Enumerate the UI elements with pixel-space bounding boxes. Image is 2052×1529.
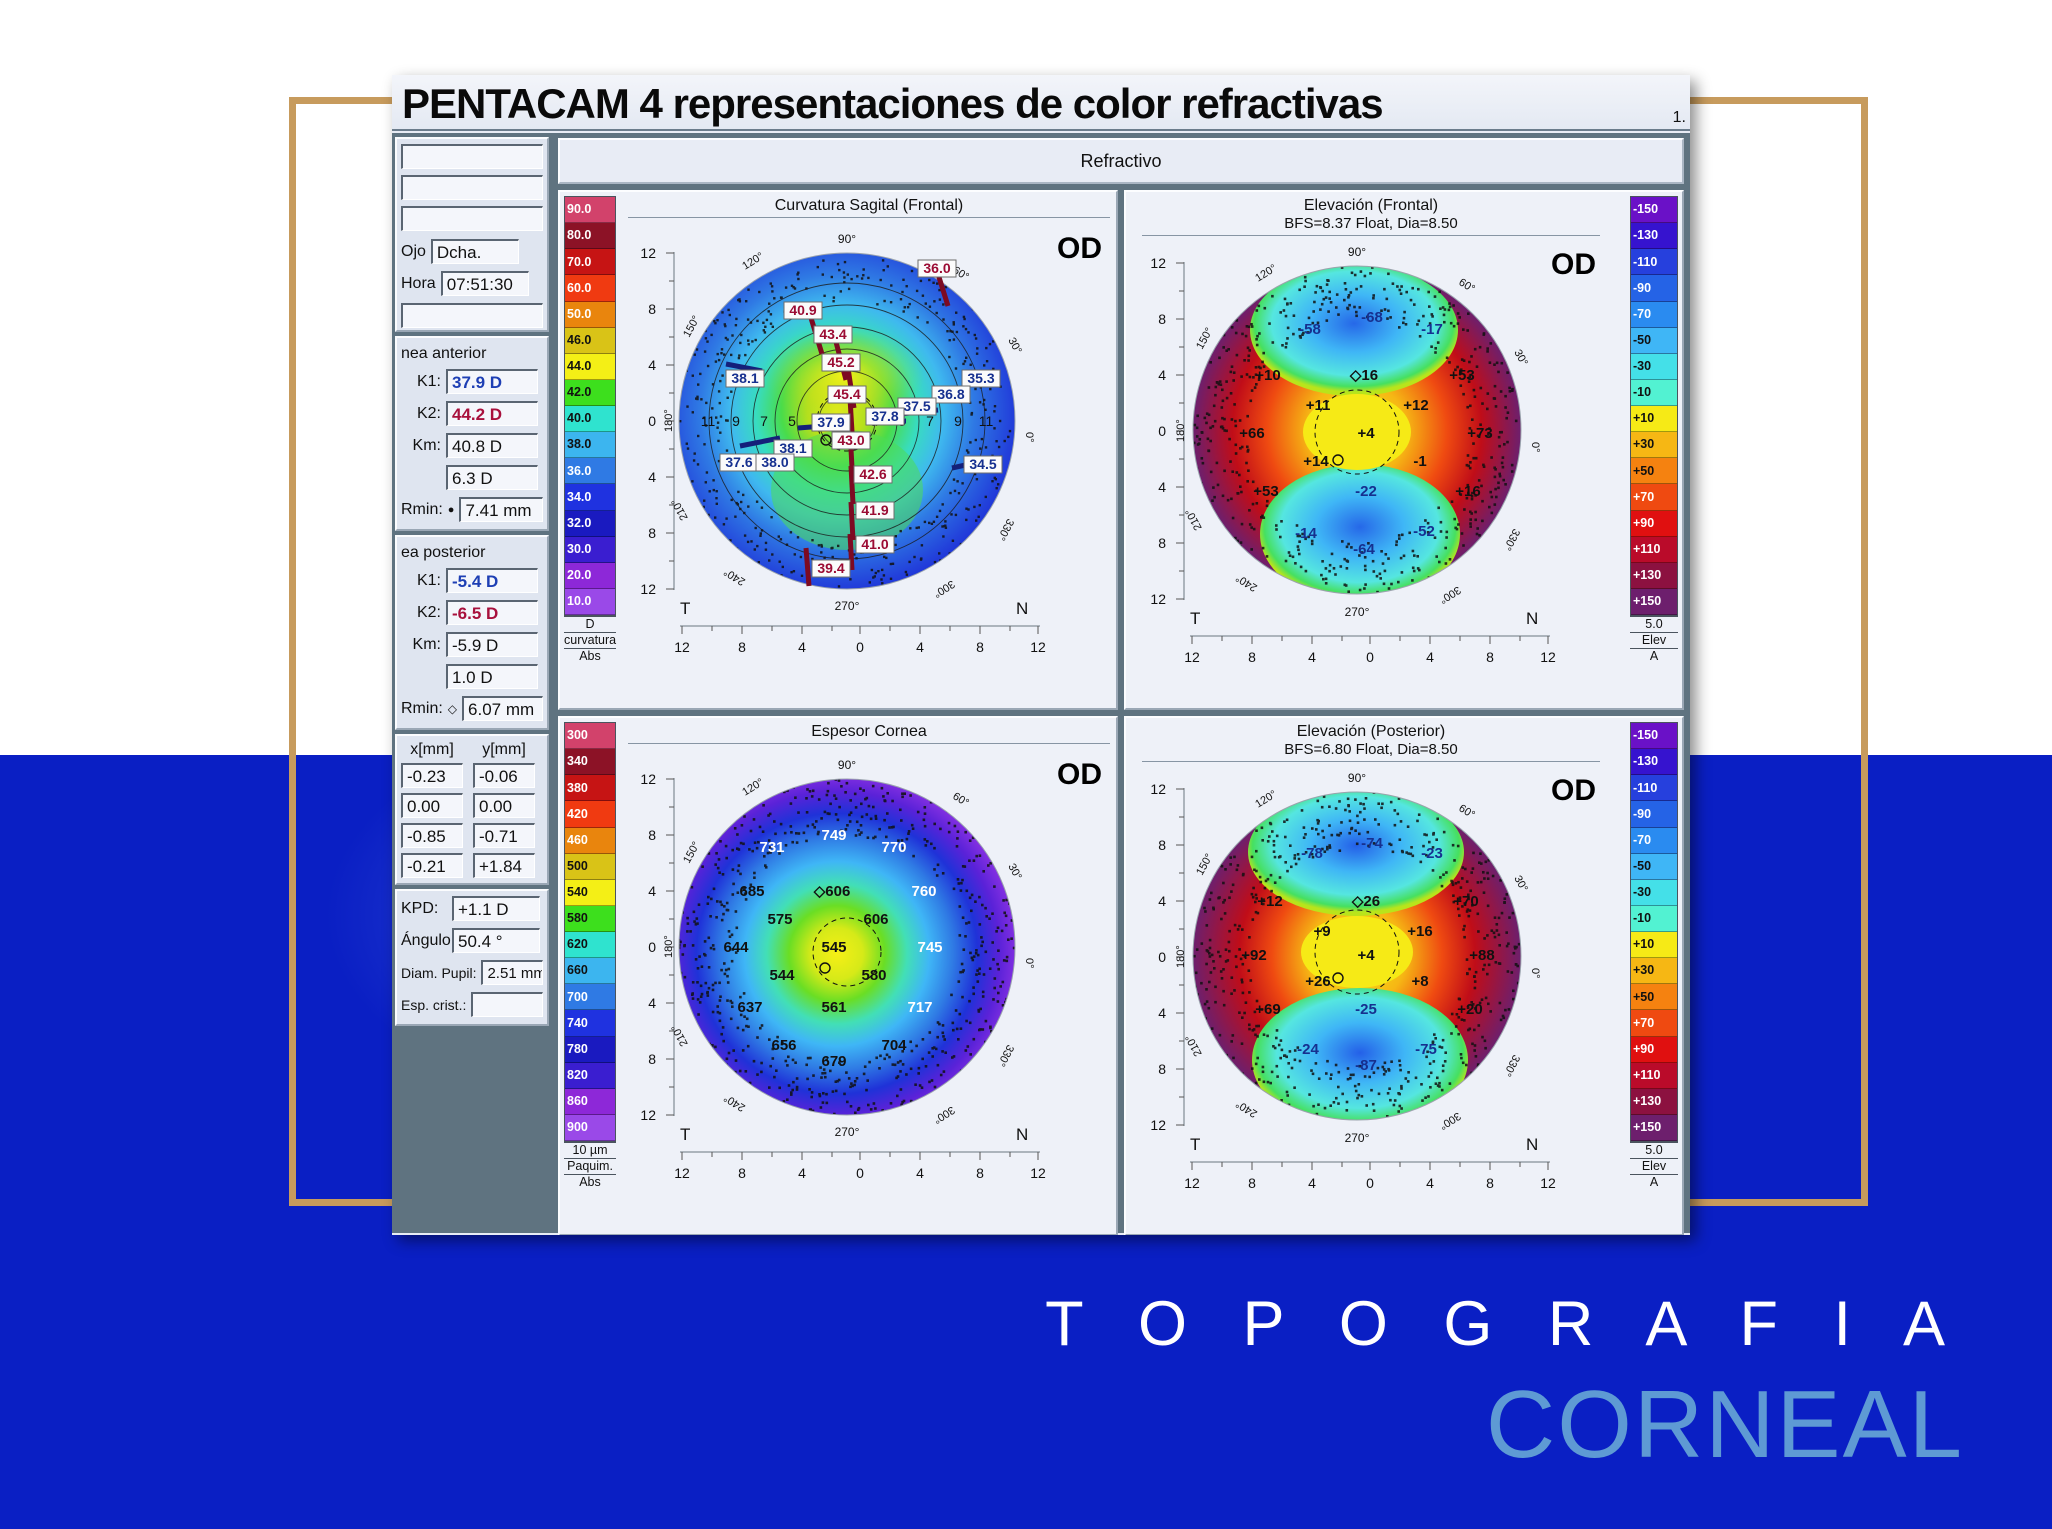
- svg-text:717: 717: [907, 999, 932, 1016]
- svg-text:12: 12: [1184, 1175, 1200, 1191]
- scale-band: 740: [565, 1010, 615, 1036]
- svg-text:0: 0: [1158, 949, 1166, 965]
- svg-text:8: 8: [1248, 649, 1256, 665]
- svg-text:150°: 150°: [1194, 852, 1216, 878]
- scale-band: -10: [1631, 906, 1677, 932]
- svg-text:575: 575: [767, 911, 792, 928]
- svg-text:0: 0: [648, 939, 656, 955]
- svg-text:38.1: 38.1: [731, 370, 758, 386]
- scale-band: +150: [1631, 589, 1677, 615]
- svg-text:4: 4: [648, 995, 656, 1011]
- eye-label: Ojo: [401, 243, 426, 261]
- anterior-km-field[interactable]: 40.8 D: [446, 433, 538, 458]
- svg-text:35.3: 35.3: [967, 370, 994, 386]
- svg-text:240°: 240°: [1234, 1097, 1260, 1119]
- svg-text:90°: 90°: [1348, 245, 1366, 259]
- elevation-scale-mode: A: [1630, 1174, 1678, 1190]
- svg-text:120°: 120°: [740, 776, 766, 798]
- posterior-cornea-panel: ea posterior K1: -5.4 D K2: -6.5 D Km: -…: [395, 535, 549, 730]
- sagittal-plot[interactable]: 12 8 4 0 4 8 12: [622, 218, 1116, 688]
- svg-text:330°: 330°: [1501, 527, 1522, 553]
- pachymetry-plot[interactable]: 12 8 4 0 4 8 12: [622, 744, 1116, 1214]
- scale-band: -90: [1631, 801, 1677, 827]
- posterior-k1-label: K1:: [401, 572, 441, 590]
- map-elevation-anterior[interactable]: Elevación (Frontal) BFS=8.37 Float, Dia=…: [1124, 190, 1684, 710]
- scale-band: -90: [1631, 275, 1677, 301]
- main-content: Refractivo 90.080.070.060.050.046.044.04…: [552, 133, 1690, 1233]
- svg-text:685: 685: [739, 883, 764, 900]
- svg-text:4: 4: [648, 357, 656, 373]
- elevation-color-scale[interactable]: -150-130-110-90-70-50-30-10+10+30+50+70+…: [1630, 196, 1678, 616]
- svg-text:4: 4: [916, 1165, 924, 1181]
- svg-text:-74: -74: [1361, 835, 1383, 852]
- svg-text:300°: 300°: [1437, 1109, 1463, 1131]
- svg-text:180°: 180°: [663, 409, 675, 432]
- svg-text:+8: +8: [1411, 973, 1428, 990]
- pupil-diameter-field[interactable]: 2.51 mm: [481, 960, 543, 985]
- svg-text:+66: +66: [1239, 425, 1264, 442]
- svg-text:+20: +20: [1457, 1001, 1482, 1018]
- svg-text:8: 8: [648, 525, 656, 541]
- svg-text:8: 8: [1158, 837, 1166, 853]
- elevation-scale-name: Elev: [1630, 1158, 1678, 1174]
- sidebar: Ojo Dcha. Hora 07:51:30 nea anterior K1:…: [392, 133, 552, 1233]
- svg-text:330°: 330°: [1501, 1053, 1522, 1079]
- svg-text:4: 4: [1158, 479, 1166, 495]
- svg-text:760: 760: [911, 883, 936, 900]
- curvature-scale-mode: Abs: [564, 648, 616, 664]
- scale-band: -70: [1631, 302, 1677, 328]
- svg-text:12: 12: [1150, 781, 1166, 797]
- svg-text:12: 12: [640, 581, 656, 597]
- anterior-cornea-panel: nea anterior K1: 37.9 D K2: 44.2 D Km: 4…: [395, 336, 549, 531]
- scale-band: +10: [1631, 406, 1677, 432]
- svg-text:-23: -23: [1421, 845, 1443, 862]
- svg-text:330°: 330°: [995, 517, 1016, 543]
- time-field[interactable]: 07:51:30: [441, 271, 529, 296]
- map-subtitle: BFS=8.37 Float, Dia=8.50: [1136, 215, 1606, 233]
- scale-band: 20.0: [565, 563, 615, 589]
- svg-text:+11: +11: [1306, 397, 1331, 414]
- scale-band: 42.0: [565, 380, 615, 406]
- coord-x-field[interactable]: -0.21: [401, 853, 463, 878]
- posterior-rmin-field[interactable]: 6.07 mm: [462, 696, 543, 721]
- svg-text:37.8: 37.8: [871, 408, 898, 424]
- svg-text:37.9: 37.9: [817, 414, 844, 430]
- scale-band: +50: [1631, 984, 1677, 1010]
- svg-text:240°: 240°: [722, 565, 748, 587]
- svg-text:210°: 210°: [669, 496, 690, 522]
- svg-text:◇26: ◇26: [1351, 893, 1380, 910]
- svg-text:4: 4: [1426, 649, 1434, 665]
- svg-text:4: 4: [1158, 367, 1166, 383]
- map-subtitle: BFS=6.80 Float, Dia=8.50: [1136, 741, 1606, 759]
- scale-band: -30: [1631, 354, 1677, 380]
- svg-text:120°: 120°: [1253, 262, 1279, 284]
- elevation-posterior-plot[interactable]: 12 8 4 0 4 8 12: [1132, 760, 1602, 1210]
- svg-text:30°: 30°: [1005, 336, 1024, 356]
- svg-text:0: 0: [1158, 423, 1166, 439]
- map-sagittal-curvature[interactable]: 90.080.070.060.050.046.044.042.040.038.0…: [558, 190, 1118, 710]
- svg-text:+92: +92: [1241, 947, 1266, 964]
- anterior-k2-field[interactable]: 44.2 D: [446, 401, 538, 426]
- svg-text:-1: -1: [1413, 453, 1426, 470]
- svg-text:4: 4: [1426, 1175, 1434, 1191]
- rmin-marker-icon: ●: [448, 504, 455, 516]
- svg-text:9: 9: [954, 413, 962, 429]
- map-title: Curvatura Sagital (Frontal): [622, 192, 1116, 215]
- svg-text:12: 12: [640, 771, 656, 787]
- scale-band: -110: [1631, 249, 1677, 275]
- svg-text:561: 561: [821, 999, 846, 1016]
- svg-text:90°: 90°: [838, 758, 856, 772]
- angle-field[interactable]: 50.4 °: [452, 928, 540, 953]
- lens-thickness-field[interactable]: [471, 992, 543, 1017]
- scale-band: 70.0: [565, 249, 615, 275]
- svg-text:5: 5: [788, 413, 796, 429]
- svg-text:240°: 240°: [1234, 571, 1260, 593]
- anterior-km-label: Km:: [401, 437, 441, 455]
- svg-text:4: 4: [798, 1165, 806, 1181]
- svg-text:731: 731: [759, 839, 784, 856]
- curvature-scale-unit: D: [564, 616, 616, 632]
- elevation-scale-name: Elev: [1630, 632, 1678, 648]
- svg-text:11: 11: [979, 413, 994, 429]
- svg-text:0°: 0°: [1023, 432, 1035, 443]
- svg-text:300°: 300°: [931, 577, 957, 599]
- svg-text:0: 0: [1366, 1175, 1374, 1191]
- scale-band: +70: [1631, 484, 1677, 510]
- coord-y-field[interactable]: -0.06: [473, 763, 535, 788]
- elevation-scale-unit: 5.0: [1630, 1142, 1678, 1158]
- svg-text:36.0: 36.0: [923, 260, 950, 276]
- svg-text:656: 656: [771, 1037, 796, 1054]
- svg-text:30°: 30°: [1005, 862, 1024, 882]
- svg-text:330°: 330°: [995, 1043, 1016, 1069]
- scale-band: 44.0: [565, 354, 615, 380]
- scale-band: 820: [565, 1063, 615, 1089]
- scale-band: -10: [1631, 380, 1677, 406]
- scale-band: -70: [1631, 828, 1677, 854]
- svg-text:-25: -25: [1355, 1001, 1377, 1018]
- scale-band: 420: [565, 801, 615, 827]
- posterior-k2-label: K2:: [401, 604, 441, 622]
- anterior-group-title: nea anterior: [401, 345, 543, 363]
- pentacam-window: PENTACAM 4 representaciones de color ref…: [392, 75, 1690, 1235]
- coord-y-field[interactable]: +1.84: [473, 853, 535, 878]
- svg-text:679: 679: [821, 1053, 846, 1070]
- svg-text:8: 8: [738, 1165, 746, 1181]
- svg-text:90°: 90°: [838, 232, 856, 246]
- svg-text:545: 545: [821, 939, 846, 956]
- scale-band: -130: [1631, 749, 1677, 775]
- svg-text:12: 12: [1540, 649, 1556, 665]
- svg-text:11: 11: [701, 413, 716, 429]
- posterior-km-field[interactable]: -5.9 D: [446, 632, 538, 657]
- anterior-k1-label: K1:: [401, 373, 441, 391]
- svg-text:41.9: 41.9: [861, 502, 888, 518]
- svg-text:8: 8: [976, 1165, 984, 1181]
- scale-band: 10.0: [565, 589, 615, 615]
- svg-text:41.0: 41.0: [861, 536, 888, 552]
- svg-text:34.5: 34.5: [969, 456, 996, 472]
- svg-text:43.4: 43.4: [819, 326, 846, 342]
- elevation-scale-unit: 5.0: [1630, 616, 1678, 632]
- svg-text:-64: -64: [1353, 541, 1375, 558]
- svg-text:+14: +14: [1303, 453, 1329, 470]
- svg-text:180°: 180°: [1175, 945, 1187, 968]
- scale-band: 340: [565, 749, 615, 775]
- svg-text:+4: +4: [1357, 425, 1375, 442]
- svg-text:+16: +16: [1455, 483, 1480, 500]
- svg-text:+73: +73: [1467, 425, 1492, 442]
- svg-text:+16: +16: [1407, 923, 1432, 940]
- page-title: PENTACAM 4 representaciones de color ref…: [402, 80, 1383, 128]
- posterior-k1-field[interactable]: -5.4 D: [446, 568, 538, 593]
- svg-text:36.8: 36.8: [937, 386, 964, 402]
- svg-text:45.2: 45.2: [827, 354, 854, 370]
- coord-x-header: x[mm]: [401, 741, 463, 759]
- svg-text:150°: 150°: [681, 840, 703, 866]
- svg-text:N: N: [1016, 599, 1028, 618]
- pachymetry-scale-mode: Abs: [564, 1174, 616, 1190]
- svg-text:4: 4: [1158, 893, 1166, 909]
- scale-band: 540: [565, 880, 615, 906]
- slide-caption-secondary: CORNEAL: [1486, 1370, 1964, 1480]
- version-label: 1.: [1673, 109, 1686, 127]
- patient-dob-field[interactable]: [401, 206, 543, 231]
- svg-text:745: 745: [917, 939, 942, 956]
- svg-text:N: N: [1016, 1125, 1028, 1144]
- posterior-km-label: Km:: [401, 636, 441, 654]
- scale-band: 38.0: [565, 432, 615, 458]
- svg-text:4: 4: [1308, 1175, 1316, 1191]
- section-header: Refractivo: [558, 138, 1684, 184]
- svg-text:-87: -87: [1355, 1057, 1377, 1074]
- svg-text:4: 4: [1158, 1005, 1166, 1021]
- svg-text:4: 4: [1308, 649, 1316, 665]
- svg-text:◇606: ◇606: [813, 883, 851, 900]
- anterior-rmin-field[interactable]: 7.41 mm: [459, 497, 543, 522]
- elevation-scale-mode: A: [1630, 648, 1678, 664]
- scale-band: 40.0: [565, 406, 615, 432]
- svg-text:8: 8: [1248, 1175, 1256, 1191]
- svg-text:T: T: [680, 599, 690, 618]
- svg-text:+12: +12: [1403, 397, 1428, 414]
- eye-field[interactable]: Dcha.: [431, 239, 519, 264]
- svg-text:N: N: [1526, 609, 1538, 628]
- patient-name-field[interactable]: [401, 144, 543, 169]
- svg-text:270°: 270°: [1345, 1131, 1370, 1145]
- svg-text:12: 12: [674, 1165, 690, 1181]
- kpd-field[interactable]: +1.1 D: [452, 896, 540, 921]
- scale-band: +70: [1631, 1010, 1677, 1036]
- curvature-scale-name: curvatura: [564, 632, 616, 648]
- svg-text:8: 8: [648, 827, 656, 843]
- svg-text:180°: 180°: [663, 935, 675, 958]
- pachymetry-color-scale[interactable]: 3003403804204605005405806206607007407808…: [564, 722, 616, 1142]
- svg-text:270°: 270°: [835, 599, 860, 613]
- scale-band: 660: [565, 958, 615, 984]
- svg-text:240°: 240°: [722, 1091, 748, 1113]
- scale-band: 580: [565, 906, 615, 932]
- scale-band: +10: [1631, 932, 1677, 958]
- svg-text:-24: -24: [1297, 1041, 1319, 1058]
- svg-text:8: 8: [1158, 311, 1166, 327]
- svg-text:+70: +70: [1453, 893, 1478, 910]
- scale-band: +130: [1631, 563, 1677, 589]
- map-elevation-posterior[interactable]: Elevación (Posterior) BFS=6.80 Float, Di…: [1124, 716, 1684, 1235]
- scale-band: 60.0: [565, 275, 615, 301]
- scale-band: -150: [1631, 723, 1677, 749]
- svg-text:-78: -78: [1301, 845, 1323, 862]
- svg-text:210°: 210°: [1183, 1032, 1204, 1058]
- coord-y-field[interactable]: 0.00: [473, 793, 535, 818]
- svg-text:0: 0: [856, 639, 864, 655]
- svg-text:40.9: 40.9: [789, 302, 816, 318]
- svg-text:4: 4: [798, 639, 806, 655]
- svg-text:8: 8: [1158, 535, 1166, 551]
- svg-text:12: 12: [640, 245, 656, 261]
- svg-text:0: 0: [1366, 649, 1374, 665]
- patient-id-field[interactable]: [401, 175, 543, 200]
- scale-band: 90.0: [565, 197, 615, 223]
- scale-band: 500: [565, 854, 615, 880]
- svg-text:45.4: 45.4: [833, 386, 860, 402]
- elevation-anterior-plot[interactable]: 12 8 4 0 4 8 12: [1132, 234, 1602, 684]
- svg-text:37.5: 37.5: [903, 398, 930, 414]
- map-title: Espesor Cornea: [622, 718, 1116, 741]
- svg-text:-75: -75: [1415, 1041, 1437, 1058]
- svg-text:270°: 270°: [1345, 605, 1370, 619]
- svg-text:38.0: 38.0: [761, 454, 788, 470]
- anterior-astigmatism-field[interactable]: 6.3 D: [446, 465, 538, 490]
- svg-text:8: 8: [1486, 1175, 1494, 1191]
- scale-band: +30: [1631, 432, 1677, 458]
- svg-text:210°: 210°: [1183, 506, 1204, 532]
- svg-text:T: T: [1190, 609, 1200, 628]
- svg-text:0°: 0°: [1529, 442, 1541, 453]
- anterior-k2-label: K2:: [401, 405, 441, 423]
- svg-text:60°: 60°: [1456, 802, 1476, 821]
- svg-text:+88: +88: [1469, 947, 1494, 964]
- scale-band: +110: [1631, 1063, 1677, 1089]
- scale-band: 460: [565, 828, 615, 854]
- svg-text:-14: -14: [1295, 525, 1317, 542]
- elevation-color-scale[interactable]: -150-130-110-90-70-50-30-10+10+30+50+70+…: [1630, 722, 1678, 1142]
- coord-y-field[interactable]: -0.71: [473, 823, 535, 848]
- svg-text:12: 12: [1150, 591, 1166, 607]
- svg-text:12: 12: [674, 639, 690, 655]
- svg-text:8: 8: [1158, 1061, 1166, 1077]
- anterior-k1-field[interactable]: 37.9 D: [446, 369, 538, 394]
- scale-band: 860: [565, 1089, 615, 1115]
- svg-text:+12: +12: [1257, 893, 1282, 910]
- scale-band: +150: [1631, 1115, 1677, 1141]
- posterior-astigmatism-field[interactable]: 1.0 D: [446, 664, 538, 689]
- pachymetry-scale-unit: 10 µm: [564, 1142, 616, 1158]
- svg-text:0°: 0°: [1023, 958, 1035, 969]
- scale-band: 780: [565, 1037, 615, 1063]
- map-title: Elevación (Frontal): [1136, 192, 1606, 215]
- svg-text:-68: -68: [1361, 309, 1383, 326]
- kpd-label: KPD:: [401, 900, 447, 918]
- scale-band: 300: [565, 723, 615, 749]
- svg-text:-17: -17: [1421, 321, 1443, 338]
- svg-text:N: N: [1526, 1135, 1538, 1154]
- svg-text:12: 12: [1150, 1117, 1166, 1133]
- svg-text:60°: 60°: [1456, 276, 1476, 295]
- coordinates-panel: x[mm] y[mm] -0.23 -0.06 0.00 0.00 -0.85 …: [395, 734, 549, 885]
- svg-text:8: 8: [976, 639, 984, 655]
- svg-text:0: 0: [856, 1165, 864, 1181]
- coord-x-field[interactable]: -0.23: [401, 763, 463, 788]
- scale-band: 700: [565, 984, 615, 1010]
- svg-text:60°: 60°: [950, 790, 970, 809]
- scale-band: +90: [1631, 511, 1677, 537]
- slide-caption-primary: T O P O G R A F I A: [1045, 1288, 1964, 1360]
- coord-y-header: y[mm]: [473, 741, 535, 759]
- svg-text:0: 0: [648, 413, 656, 429]
- scale-band: +130: [1631, 1089, 1677, 1115]
- svg-text:+4: +4: [1357, 947, 1375, 964]
- svg-text:12: 12: [1150, 255, 1166, 271]
- svg-text:12: 12: [1540, 1175, 1556, 1191]
- scale-band: 46.0: [565, 328, 615, 354]
- svg-text:120°: 120°: [1253, 788, 1279, 810]
- svg-text:+53: +53: [1449, 367, 1474, 384]
- scale-band: 34.0: [565, 484, 615, 510]
- svg-text:43.0: 43.0: [837, 432, 864, 448]
- svg-text:120°: 120°: [740, 250, 766, 272]
- scale-band: +30: [1631, 958, 1677, 984]
- svg-text:12: 12: [1030, 1165, 1046, 1181]
- svg-text:90°: 90°: [1348, 771, 1366, 785]
- svg-text:30°: 30°: [1511, 874, 1530, 894]
- svg-text:0°: 0°: [1529, 968, 1541, 979]
- svg-text:580: 580: [861, 967, 886, 984]
- scale-band: 32.0: [565, 511, 615, 537]
- svg-text:4: 4: [648, 883, 656, 899]
- scale-band: 36.0: [565, 458, 615, 484]
- exam-extra-field[interactable]: [401, 303, 543, 328]
- svg-text:770: 770: [881, 839, 906, 856]
- posterior-group-title: ea posterior: [401, 544, 543, 562]
- scale-band: -50: [1631, 328, 1677, 354]
- svg-text:+26: +26: [1305, 973, 1330, 990]
- scale-band: 380: [565, 775, 615, 801]
- curvature-color-scale[interactable]: 90.080.070.060.050.046.044.042.040.038.0…: [564, 196, 616, 616]
- scale-band: 30.0: [565, 537, 615, 563]
- time-label: Hora: [401, 275, 436, 293]
- coord-x-field[interactable]: -0.85: [401, 823, 463, 848]
- scale-band: -50: [1631, 854, 1677, 880]
- scale-band: -30: [1631, 880, 1677, 906]
- svg-text:T: T: [1190, 1135, 1200, 1154]
- scale-band: -150: [1631, 197, 1677, 223]
- svg-text:+10: +10: [1255, 367, 1280, 384]
- svg-text:150°: 150°: [1194, 326, 1216, 352]
- scale-band: +90: [1631, 1037, 1677, 1063]
- svg-text:180°: 180°: [1175, 419, 1187, 442]
- scale-band: 620: [565, 932, 615, 958]
- coord-x-field[interactable]: 0.00: [401, 793, 463, 818]
- posterior-k2-field[interactable]: -6.5 D: [446, 600, 538, 625]
- map-pachymetry[interactable]: 3003403804204605005405806206607007407808…: [558, 716, 1118, 1235]
- svg-text:544: 544: [769, 967, 795, 984]
- svg-text:-58: -58: [1299, 321, 1321, 338]
- svg-text:606: 606: [863, 911, 888, 928]
